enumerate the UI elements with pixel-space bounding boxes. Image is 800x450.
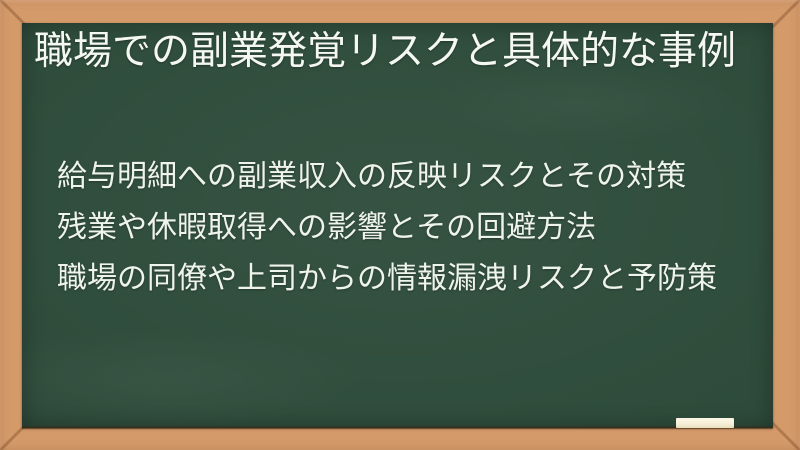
slide-title: 職場での副業発覚リスクと具体的な事例	[34, 26, 740, 77]
slide-root: 職場での副業発覚リスクと具体的な事例 給与明細への副業収入の反映リスクとその対策…	[0, 0, 800, 450]
frame-miter-top-right	[770, 0, 800, 30]
chalk-ledge	[22, 426, 773, 429]
chalk-stick-icon	[676, 418, 734, 428]
slide-bullet-list: 給与明細への副業収入の反映リスクとその対策 残業や休暇取得への影響とその回避方法…	[57, 151, 763, 304]
slide-bullet-item: 残業や休暇取得への影響とその回避方法	[57, 202, 763, 253]
frame-miter-bottom-right	[770, 420, 800, 450]
chalkboard: 職場での副業発覚リスクと具体的な事例 給与明細への副業収入の反映リスクとその対策…	[22, 23, 773, 428]
slide-bullet-item: 給与明細への副業収入の反映リスクとその対策	[57, 151, 763, 202]
slide-bullet-item: 職場の同僚や上司からの情報漏洩リスクと予防策	[57, 253, 763, 304]
